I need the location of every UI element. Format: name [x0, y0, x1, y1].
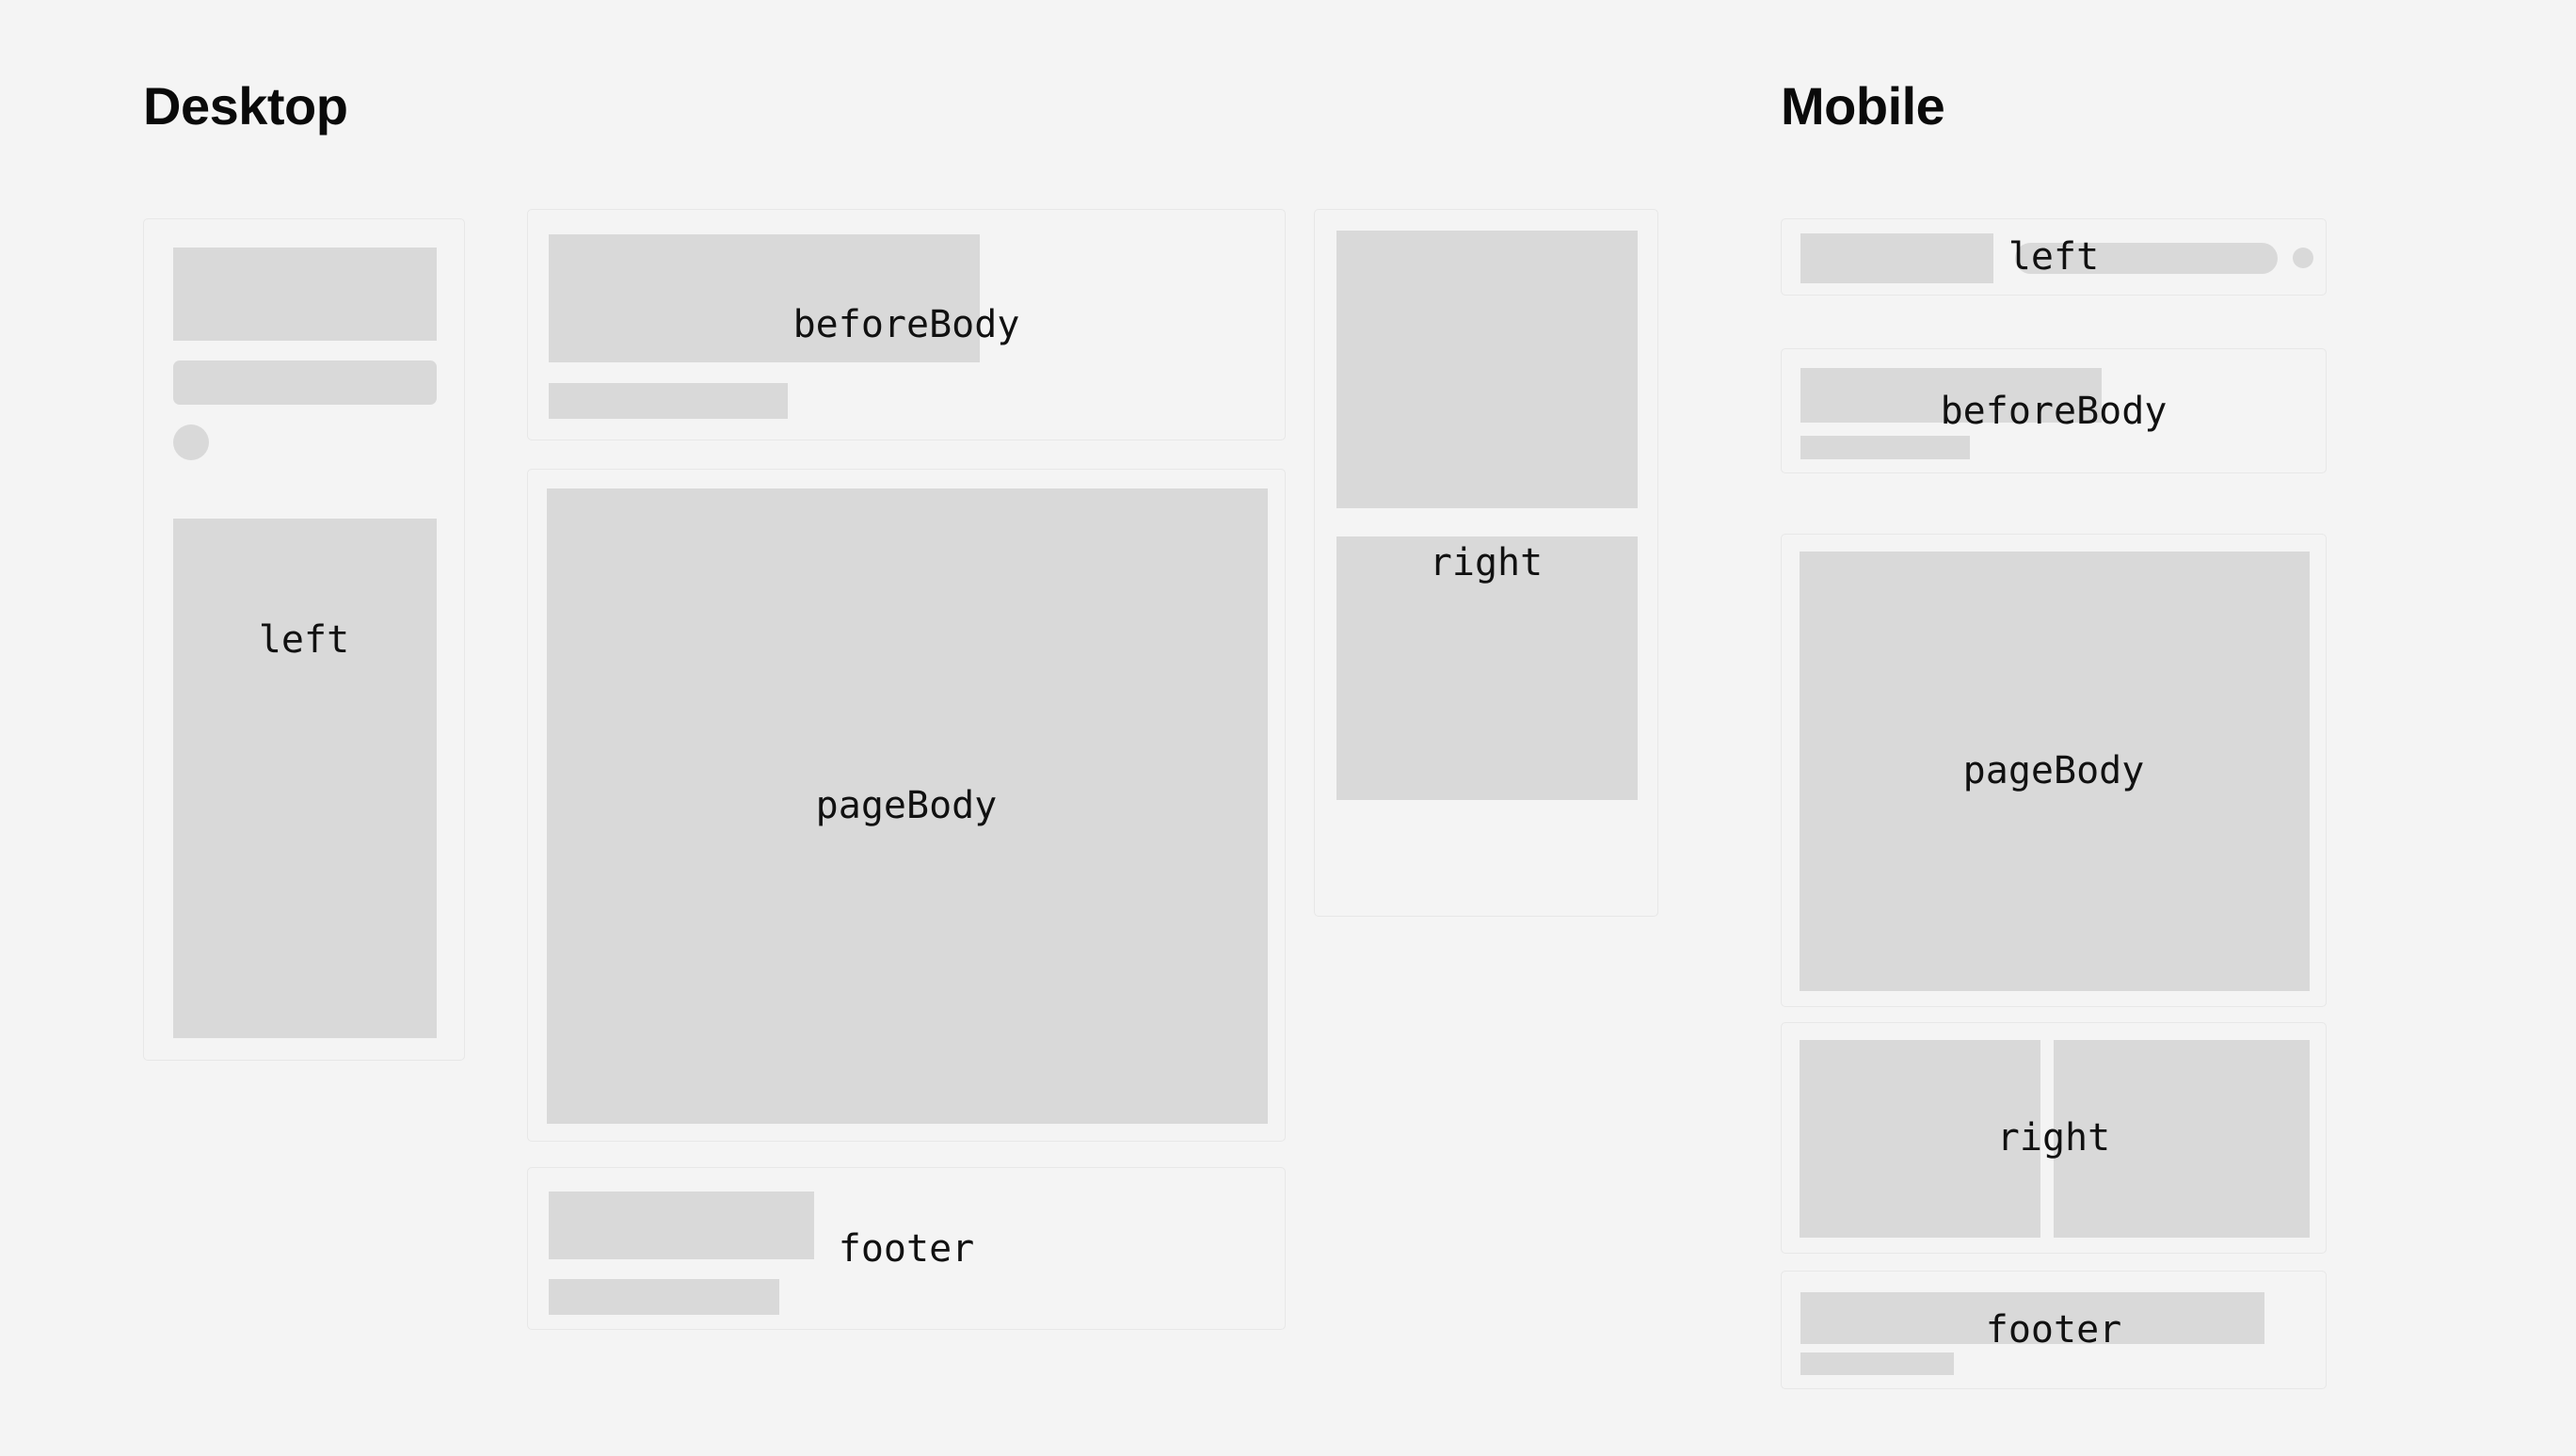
placeholder-block — [173, 248, 437, 341]
placeholder-block — [1800, 368, 2102, 423]
placeholder-block — [549, 1192, 814, 1259]
mobile-slot-left[interactable]: left — [1781, 218, 2327, 296]
desktop-slot-footer[interactable]: footer — [527, 1167, 1286, 1330]
desktop-slot-left[interactable]: left — [143, 218, 465, 1061]
placeholder-panel — [1800, 552, 2310, 991]
placeholder-block — [1800, 1292, 2264, 1344]
placeholder-panel — [2054, 1040, 2310, 1238]
mobile-slot-before-body[interactable]: beforeBody — [1781, 348, 2327, 473]
wireframe-stage: Desktop left beforeBody pageBody right f… — [0, 0, 2576, 1456]
desktop-slot-right[interactable]: right — [1314, 209, 1658, 917]
mobile-section-title: Mobile — [1781, 80, 1944, 133]
placeholder-bar — [173, 360, 437, 405]
desktop-slot-page-body[interactable]: pageBody — [527, 469, 1286, 1142]
placeholder-panel — [1336, 231, 1638, 508]
desktop-slot-before-body[interactable]: beforeBody — [527, 209, 1286, 440]
placeholder-bar — [1800, 436, 1970, 459]
placeholder-panel — [1336, 536, 1638, 800]
placeholder-avatar-circle — [173, 424, 209, 460]
placeholder-bar — [549, 1279, 779, 1315]
placeholder-block — [1800, 233, 1993, 283]
placeholder-bar — [2015, 243, 2278, 274]
placeholder-panel — [547, 488, 1268, 1124]
placeholder-panel — [1800, 1040, 2040, 1238]
placeholder-block — [549, 234, 980, 362]
placeholder-avatar-circle — [2293, 248, 2313, 268]
mobile-slot-right[interactable]: right — [1781, 1022, 2327, 1254]
placeholder-panel — [173, 519, 437, 1038]
placeholder-bar — [549, 383, 788, 419]
mobile-slot-footer[interactable]: footer — [1781, 1271, 2327, 1389]
mobile-slot-page-body[interactable]: pageBody — [1781, 534, 2327, 1007]
desktop-section-title: Desktop — [143, 80, 347, 133]
placeholder-bar — [1800, 1352, 1954, 1375]
